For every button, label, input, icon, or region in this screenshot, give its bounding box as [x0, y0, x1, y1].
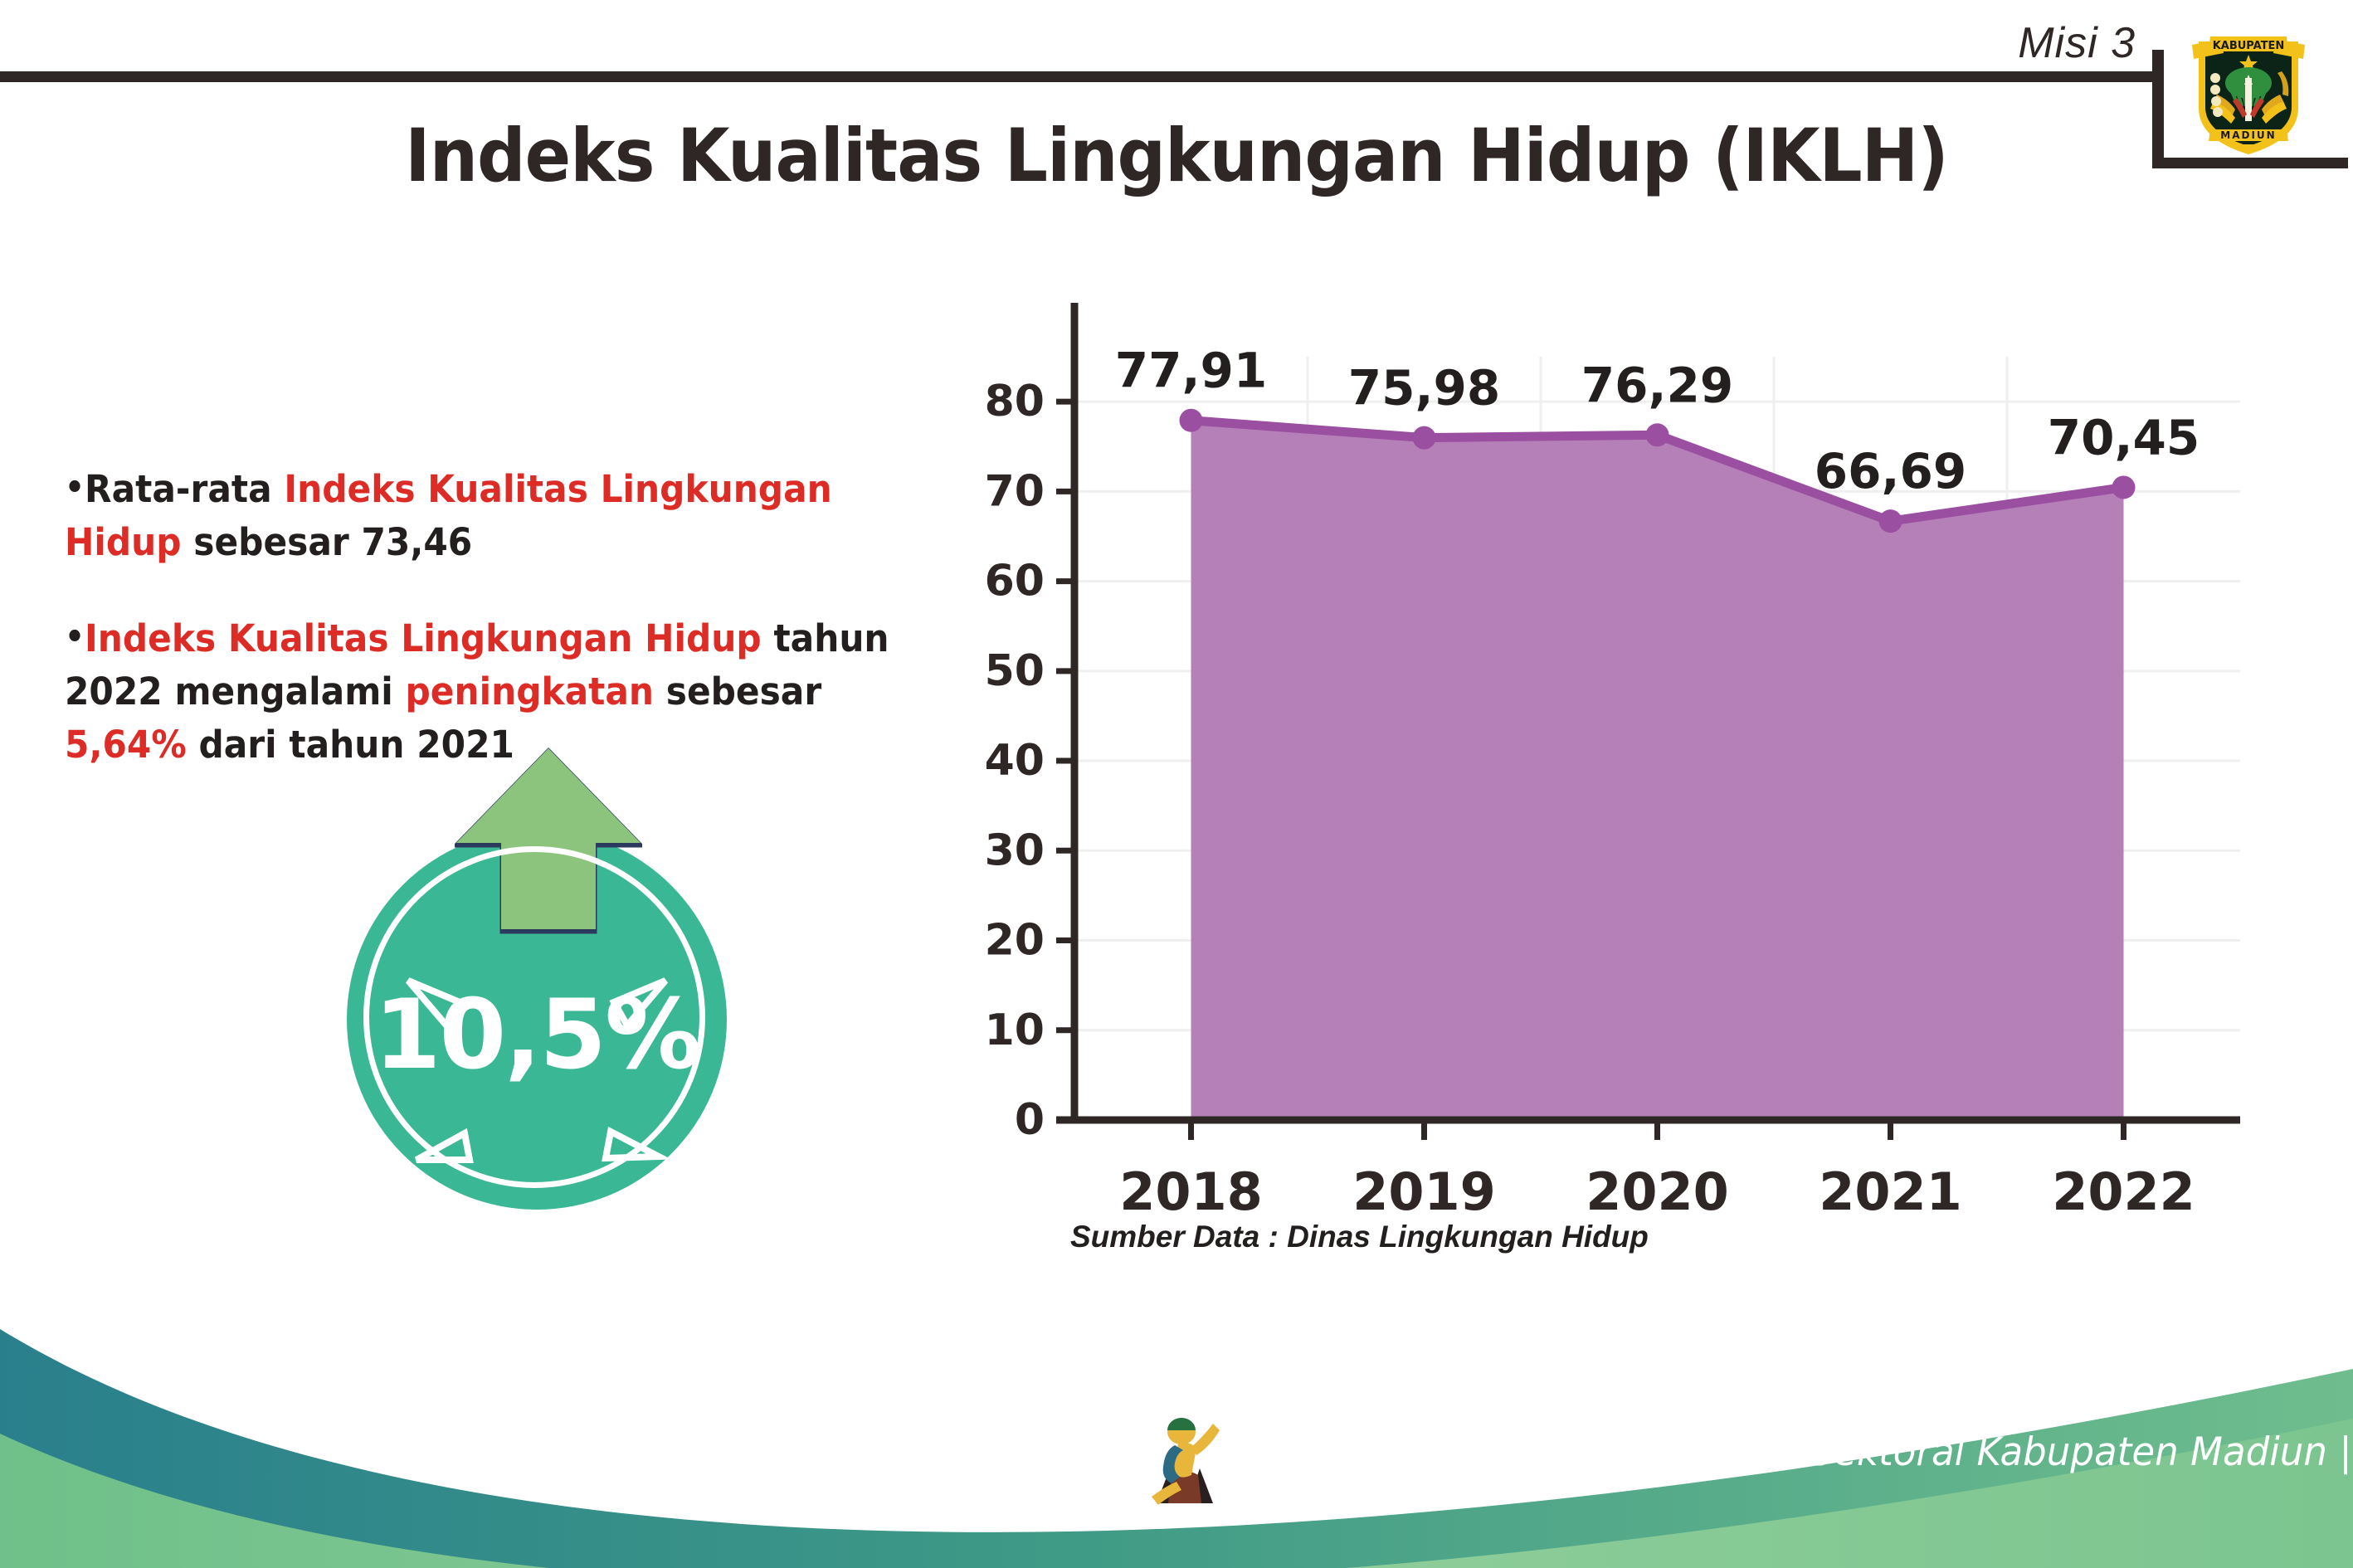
bullet-highlight: peningkatan	[406, 670, 655, 713]
misi-label: Misi 3	[2018, 18, 2136, 68]
y-tick-label: 70	[985, 466, 1045, 516]
x-tick-label: 2018	[1119, 1161, 1263, 1222]
bullet-text-1: Indeks Kualitas Lingkungan Hidup tahun 2…	[65, 616, 889, 767]
footer-caption: Media Infografis Data Statistik Sektoral…	[1231, 1429, 2352, 1475]
iklh-area-chart: 01020304050607080 20182019202020212022 7…	[958, 290, 2286, 1286]
data-marker	[1180, 409, 1203, 432]
page-title: Indeks Kualitas Lingkungan Hidup (IKLH)	[82, 113, 2270, 198]
chart-x-tick-labels: 20182019202020212022	[1119, 1161, 2195, 1222]
y-tick-label: 40	[985, 736, 1045, 786]
bullet-marker-icon: •	[65, 621, 85, 654]
y-tick-label: 10	[985, 1006, 1045, 1055]
bullet-text-0: Rata-rata Indeks Kualitas Lingkungan Hid…	[65, 467, 832, 564]
bullet-plain: Rata-rata	[85, 467, 284, 511]
y-tick-label: 50	[985, 646, 1045, 696]
chart-source-note: Sumber Data : Dinas Lingkungan Hidup	[1070, 1220, 1649, 1254]
data-marker	[1646, 423, 1669, 446]
chart-canvas: 01020304050607080 20182019202020212022 7…	[958, 290, 2286, 1286]
bullet-highlight: Indeks Kualitas Lingkungan Hidup	[85, 616, 762, 660]
badge-percent-label: 10,5%	[347, 979, 727, 1091]
data-value-label: 66,69	[1815, 443, 1966, 499]
y-tick-label: 80	[985, 377, 1045, 426]
y-tick-label: 0	[1015, 1095, 1045, 1145]
bullet-plain: sebesar 73,46	[182, 520, 473, 564]
data-value-label: 75,98	[1348, 360, 1500, 416]
chart-y-tick-labels: 01020304050607080	[985, 377, 1045, 1145]
y-tick-label: 60	[985, 557, 1045, 606]
bullet-highlight: 5,64%	[65, 723, 187, 767]
x-tick-label: 2020	[1586, 1161, 1729, 1222]
x-tick-label: 2021	[1819, 1161, 1962, 1222]
bullet-plain: sebesar	[654, 670, 821, 713]
data-marker	[1879, 509, 1902, 533]
data-value-label: 76,29	[1581, 357, 1733, 413]
svg-text:KABUPATEN: KABUPATEN	[2213, 40, 2285, 52]
data-marker	[1413, 426, 1436, 450]
infographic-slide: Misi 3 KABUPATEN MADIUN Indeks Kualitas …	[0, 0, 2353, 1568]
chart-area-fill	[1191, 421, 2124, 1120]
bullet-item: •Rata-rata Indeks Kualitas Lingkungan Hi…	[65, 463, 891, 569]
data-value-label: 77,91	[1115, 343, 1267, 399]
bullet-marker-icon: •	[65, 471, 85, 504]
header-rule-horizontal	[0, 71, 2163, 82]
y-tick-label: 20	[985, 916, 1045, 966]
data-marker	[2112, 475, 2136, 499]
increase-badge: 10,5%	[330, 747, 762, 1195]
footer-band: Media Infografis Data Statistik Sektoral…	[0, 1294, 2353, 1568]
y-tick-label: 30	[985, 825, 1045, 875]
statistics-figure-logo-icon	[1142, 1404, 1225, 1510]
data-value-label: 70,45	[2048, 409, 2200, 465]
x-tick-label: 2022	[2052, 1161, 2195, 1222]
x-tick-label: 2019	[1352, 1161, 1496, 1222]
